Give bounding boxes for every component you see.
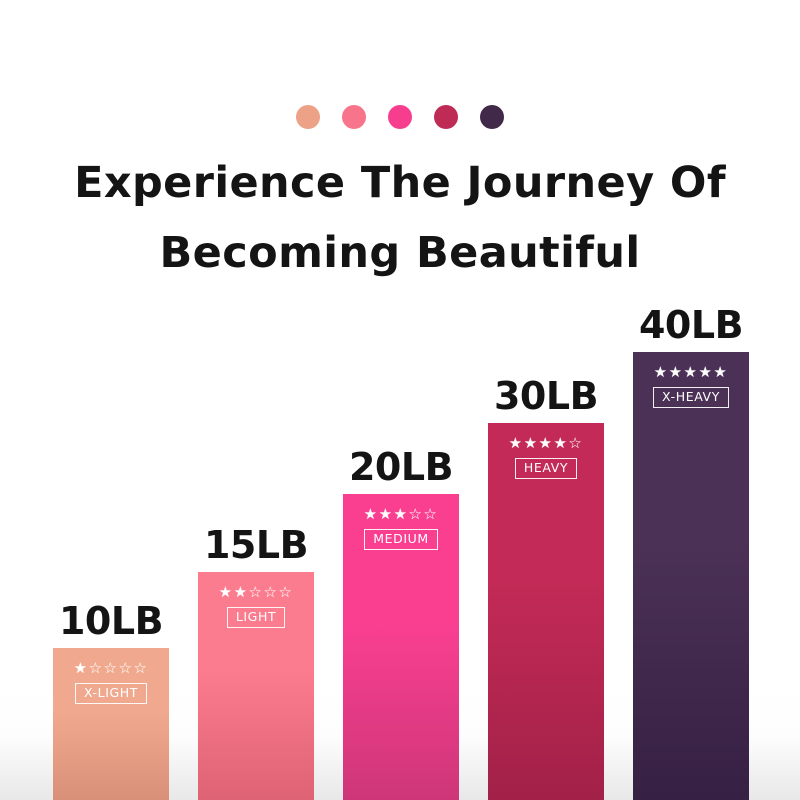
bar-content-x-heavy: ★★★★★X-HEAVY: [633, 364, 749, 408]
bar-group-heavy[interactable]: 30LB★★★★☆HEAVY: [488, 423, 604, 800]
bar-fill-heavy: [488, 423, 604, 800]
bar-medium: ★★★☆☆MEDIUM: [343, 494, 459, 800]
bar-content-x-light: ★☆☆☆☆X-LIGHT: [53, 660, 169, 704]
bar-weight-label-light: 15LB: [204, 523, 308, 567]
star-rating-x-light: ★☆☆☆☆: [53, 660, 169, 677]
star-rating-light: ★★☆☆☆: [198, 584, 314, 601]
resistance-bar-chart: 10LB★☆☆☆☆X-LIGHT15LB★★☆☆☆LIGHT20LB★★★☆☆M…: [0, 0, 800, 800]
bar-group-x-light[interactable]: 10LB★☆☆☆☆X-LIGHT: [53, 648, 169, 800]
product-infographic: Experience The Journey Of Becoming Beaut…: [0, 0, 800, 800]
bar-weight-label-heavy: 30LB: [494, 374, 598, 418]
level-badge-medium: MEDIUM: [364, 529, 438, 550]
level-badge-light: LIGHT: [227, 607, 285, 628]
star-rating-medium: ★★★☆☆: [343, 506, 459, 523]
star-rating-x-heavy: ★★★★★: [633, 364, 749, 381]
bar-heavy: ★★★★☆HEAVY: [488, 423, 604, 800]
level-badge-x-light: X-LIGHT: [75, 683, 147, 704]
level-badge-x-heavy: X-HEAVY: [653, 387, 729, 408]
star-rating-heavy: ★★★★☆: [488, 435, 604, 452]
bar-content-heavy: ★★★★☆HEAVY: [488, 435, 604, 479]
bar-content-light: ★★☆☆☆LIGHT: [198, 584, 314, 628]
bar-group-medium[interactable]: 20LB★★★☆☆MEDIUM: [343, 494, 459, 800]
bar-group-light[interactable]: 15LB★★☆☆☆LIGHT: [198, 572, 314, 800]
bar-weight-label-x-light: 10LB: [59, 599, 163, 643]
bar-group-x-heavy[interactable]: 40LB★★★★★X-HEAVY: [633, 352, 749, 800]
bar-weight-label-medium: 20LB: [349, 445, 453, 489]
level-badge-heavy: HEAVY: [515, 458, 577, 479]
bar-weight-label-x-heavy: 40LB: [639, 303, 743, 347]
bar-light: ★★☆☆☆LIGHT: [198, 572, 314, 800]
bar-x-light: ★☆☆☆☆X-LIGHT: [53, 648, 169, 800]
bar-x-heavy: ★★★★★X-HEAVY: [633, 352, 749, 800]
bar-fill-x-heavy: [633, 352, 749, 800]
bar-content-medium: ★★★☆☆MEDIUM: [343, 506, 459, 550]
